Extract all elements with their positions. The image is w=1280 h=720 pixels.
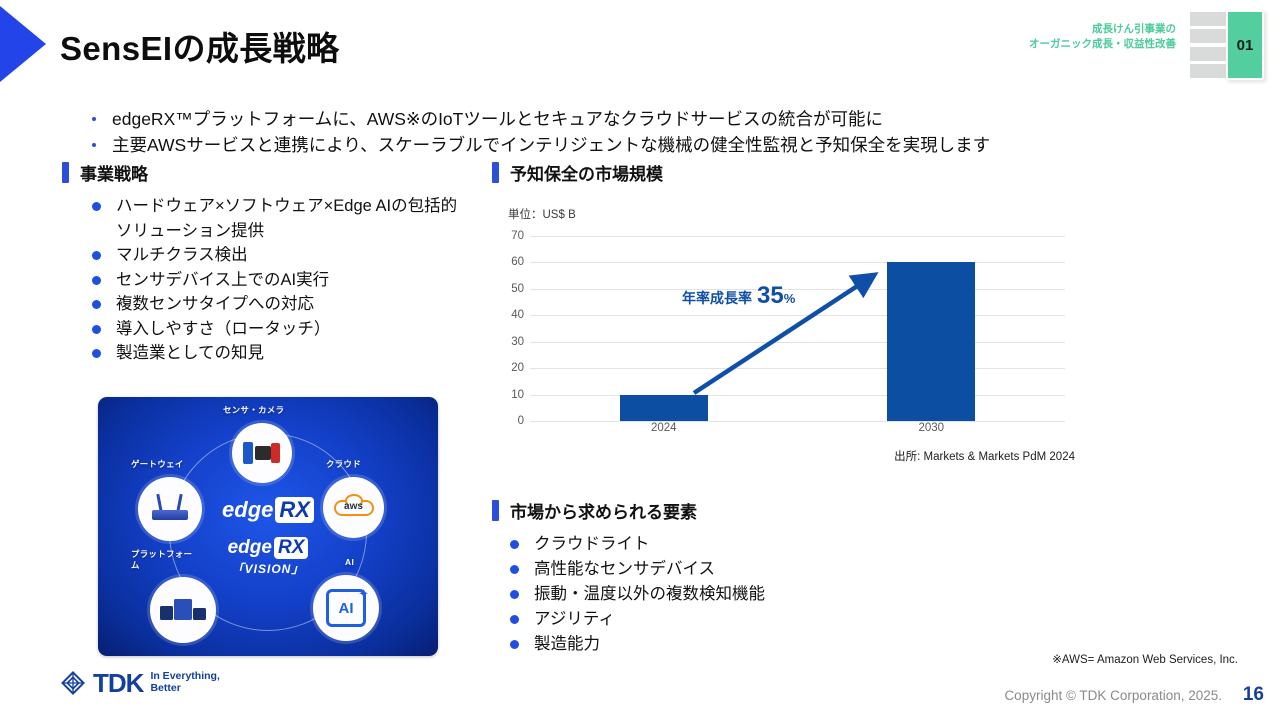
- diagram-label-sensor: センサ・カメラ: [223, 405, 284, 416]
- chapter-label: 成長けん引事業の オーガニック成長・収益性改善: [996, 22, 1176, 52]
- copyright-text: Copyright © TDK Corporation, 2025.: [1004, 688, 1222, 703]
- sparkle-icon: ✦: [358, 586, 369, 602]
- camera-icon: [242, 440, 282, 466]
- tdk-logo: TDK In Everything, Better: [60, 670, 220, 696]
- section-heading-business-strategy: 事業戦略: [62, 160, 148, 185]
- growth-rate-unit: %: [784, 291, 796, 306]
- vision-sub: 「VISION」: [98, 560, 438, 577]
- chart-y-tick-label: 0: [500, 415, 524, 427]
- tdk-wordmark: TDK: [93, 670, 143, 696]
- diagram-label-gateway: ゲートウェイ: [131, 459, 184, 470]
- business-strategy-list: ハードウェア×ソフトウェア×Edge AIの包括的ソリューション提供 マルチクラ…: [82, 194, 462, 366]
- list-item: 高性能なセンサデバイス: [500, 557, 1020, 582]
- edgerx-vision-wordmark: edgeRX 「VISION」: [98, 537, 438, 577]
- slide: SensEIの成長戦略 成長けん引事業の オーガニック成長・収益性改善 01 e…: [0, 0, 1280, 720]
- section-title: 予知保全の市場規模: [510, 160, 663, 185]
- list-item: 導入しやすさ（ロータッチ）: [82, 317, 462, 342]
- aws-footnote: ※AWS= Amazon Web Services, Inc.: [1052, 652, 1238, 666]
- heading-accent-bar: [492, 500, 499, 521]
- diagram-node-ai: AI ✦: [313, 575, 379, 641]
- section-title: 市場から求められる要素: [510, 498, 697, 523]
- corner-arrow-icon: [0, 6, 46, 82]
- chart-gridline: [530, 236, 1065, 237]
- edgerx-vision-word: edge: [228, 537, 272, 558]
- list-item: 製造業としての知見: [82, 341, 462, 366]
- section-heading-market-size: 予知保全の市場規模: [492, 160, 663, 185]
- list-item: クラウドライト: [500, 532, 1020, 557]
- list-item: 振動・温度以外の複数検知機能: [500, 582, 1020, 607]
- chart-y-tick-label: 40: [500, 309, 524, 321]
- header-bullet-1: edgeRX™プラットフォームに、AWS※のIoTツールとセキュアなクラウドサー…: [86, 106, 1280, 132]
- list-item: 複数センサタイプへの対応: [82, 292, 462, 317]
- chart-gridline: [530, 421, 1065, 422]
- section-heading-market-requirements: 市場から求められる要素: [492, 498, 697, 523]
- ai-icon: AI ✦: [326, 589, 366, 627]
- list-item: ハードウェア×ソフトウェア×Edge AIの包括的ソリューション提供: [82, 194, 462, 243]
- chart-source: 出所: Markets & Markets PdM 2024: [700, 448, 1075, 464]
- list-item: アジリティ: [500, 607, 1020, 632]
- growth-rate-label: 年率成長率: [682, 288, 752, 308]
- list-item: 製造能力: [500, 632, 1020, 657]
- header-bullet-2: 主要AWSサービスと連携により、スケーラブルでインテリジェントな機械の健全性監視…: [86, 132, 1280, 158]
- chapter-indicator: 成長けん引事業の オーガニック成長・収益性改善 01: [1190, 8, 1268, 84]
- chart-y-tick-label: 70: [500, 230, 524, 242]
- chart-y-tick-label: 20: [500, 362, 524, 374]
- chapter-grid-icon: [1190, 12, 1230, 78]
- heading-accent-bar: [62, 162, 69, 183]
- edgerx-rx: RX: [275, 497, 314, 523]
- chapter-label-line1: 成長けん引事業の: [996, 22, 1176, 37]
- growth-rate-annotation: 年率成長率 35 %: [682, 282, 795, 310]
- diagram-node-platform: [150, 577, 216, 643]
- chart-y-tick-label: 60: [500, 256, 524, 268]
- header-bullet-list: edgeRX™プラットフォームに、AWS※のIoTツールとセキュアなクラウドサー…: [46, 106, 1280, 158]
- page-title: SensEIの成長戦略: [60, 32, 339, 65]
- chapter-label-line2: オーガニック成長・収益性改善: [996, 37, 1176, 52]
- diagram-label-cloud: クラウド: [326, 459, 361, 470]
- tdk-tagline-line2: Better: [150, 683, 219, 695]
- list-item: マルチクラス検出: [82, 243, 462, 268]
- chart-y-tick-label: 10: [500, 389, 524, 401]
- edgerx-vision-rx: RX: [274, 537, 308, 559]
- edgerx-ecosystem-diagram: センサ・カメラ ゲートウェイ クラウド プラットフォーム AI aws AI ✦: [98, 397, 438, 656]
- devices-icon: [160, 596, 206, 624]
- chart-bar: [887, 262, 975, 421]
- section-title: 事業戦略: [80, 160, 148, 185]
- list-item: センサデバイス上でのAI実行: [82, 268, 462, 293]
- edgerx-word: edge: [222, 497, 273, 522]
- growth-rate-value: 35: [757, 282, 784, 310]
- ai-icon-text: AI: [339, 600, 354, 617]
- chapter-number: 01: [1226, 10, 1264, 80]
- diagram-node-sensor: [232, 423, 292, 483]
- chart-x-tick-label: 2024: [651, 422, 677, 434]
- heading-accent-bar: [492, 162, 499, 183]
- tdk-tagline: In Everything, Better: [150, 671, 219, 695]
- market-requirements-list: クラウドライト 高性能なセンサデバイス 振動・温度以外の複数検知機能 アジリティ…: [500, 532, 1020, 657]
- edgerx-wordmark: edgeRX: [98, 497, 438, 523]
- tdk-diamond-icon: [60, 670, 86, 696]
- page-number: 16: [1243, 684, 1264, 706]
- chart-y-tick-label: 50: [500, 283, 524, 295]
- chart-y-tick-label: 30: [500, 336, 524, 348]
- chart-gridline: [530, 262, 1065, 263]
- chart-x-tick-label: 2030: [918, 422, 944, 434]
- chart-unit-label: 単位：US$ B: [508, 206, 576, 222]
